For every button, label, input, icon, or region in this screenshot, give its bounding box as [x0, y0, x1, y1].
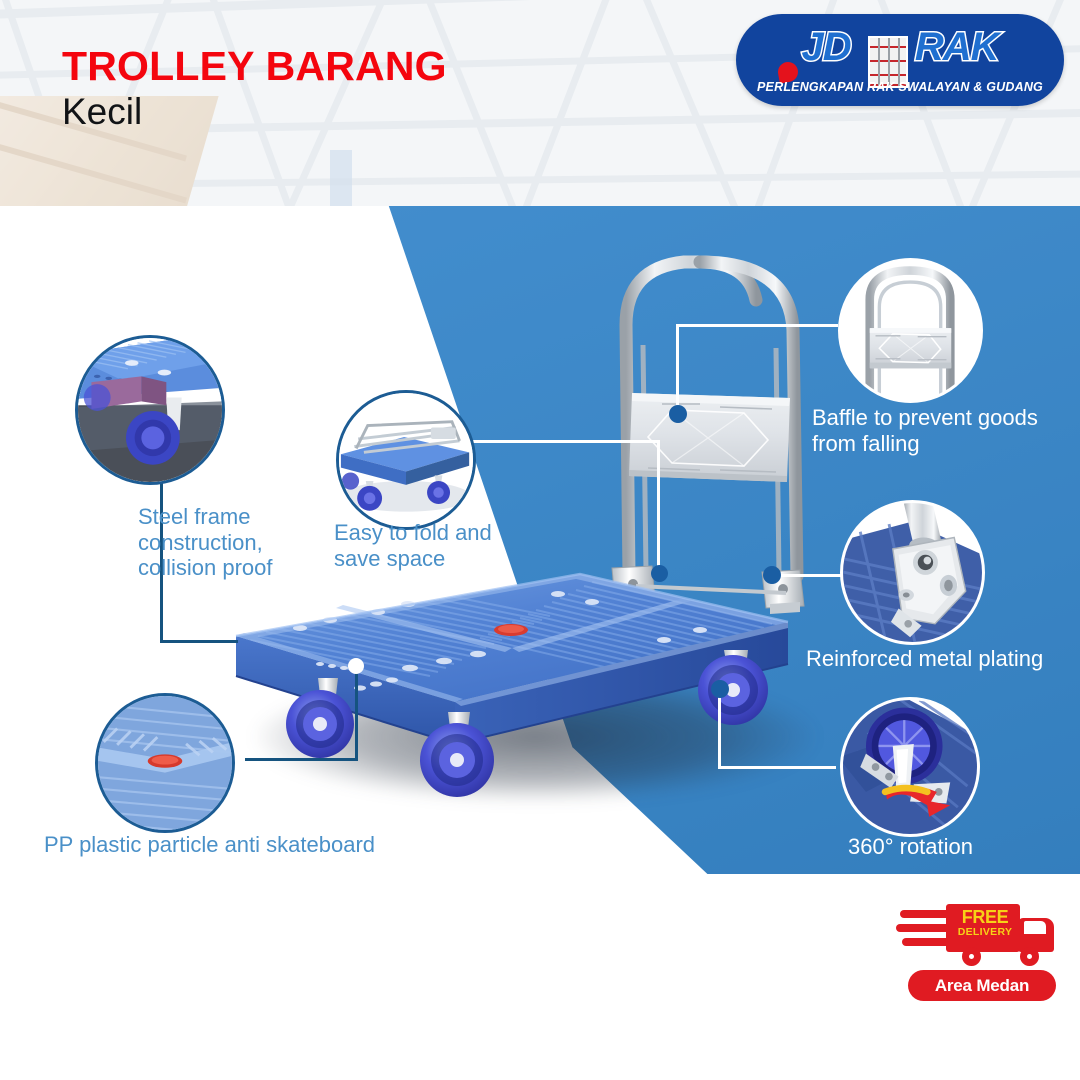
delivery-area-pill[interactable]: Area Medan — [908, 970, 1056, 1001]
hotspot-rotation — [711, 680, 729, 698]
connector-baffle-horizontal — [676, 324, 838, 327]
hotspot-metal-plating — [763, 566, 781, 584]
connector-easy-fold-drop — [657, 440, 660, 574]
callout-label-metal-plating: Reinforced metal plating — [806, 646, 1078, 672]
callout-label-easy-fold: Easy to fold and save space — [334, 520, 564, 571]
callout-label-rotation: 360° rotation — [848, 834, 1068, 860]
callout-line-2: save space — [334, 546, 564, 572]
callout-bubble-baffle[interactable] — [838, 258, 983, 403]
speed-line-3 — [902, 938, 950, 946]
connector-steel-frame-horizontal — [160, 640, 238, 643]
callout-line-1: Easy to fold and — [334, 520, 564, 546]
callout-bubble-steel-frame[interactable] — [75, 335, 225, 485]
connector-easy-fold — [460, 440, 660, 443]
connector-rotation-vertical — [718, 690, 721, 768]
callout-bubble-pp-plastic[interactable] — [95, 693, 235, 833]
speed-line-1 — [900, 910, 950, 918]
textured-deck-closeup — [98, 696, 232, 830]
brand-logo[interactable]: JD RAK PERLENGKAPAN RAK SWALAYAN & GUDAN… — [736, 14, 1064, 106]
truck-wheel-front — [1020, 947, 1039, 966]
logo-artwork: JD RAK PERLENGKAPAN RAK SWALAYAN & GUDAN… — [736, 14, 1064, 106]
truck-wheel-rear — [962, 947, 981, 966]
page-subtitle: Kecil — [62, 91, 447, 134]
hinge-plate-closeup — [843, 503, 982, 642]
callout-line-1: 360° rotation — [848, 834, 1068, 860]
hotspot-baffle — [669, 405, 687, 423]
callout-line-2: construction, — [138, 530, 338, 556]
folded-trolley-closeup — [339, 393, 473, 527]
callout-line-3: collision proof — [138, 555, 338, 581]
truck-cab — [1018, 918, 1054, 952]
product-floor-shadow — [255, 672, 815, 802]
connector-rotation-horizontal — [718, 766, 836, 769]
callout-bubble-metal-plating[interactable] — [840, 500, 985, 645]
handle-baffle-closeup — [841, 261, 980, 400]
callout-bubble-easy-fold[interactable] — [336, 390, 476, 530]
hotspot-easy-fold — [651, 565, 668, 582]
callout-line-1: Baffle to prevent goods — [812, 405, 1074, 431]
logo-tagline: PERLENGKAPAN RAK SWALAYAN & GUDANG — [754, 80, 1046, 94]
infographic-canvas: TROLLEY BARANG Kecil JD RAK PERLENGKAPAN… — [0, 0, 1080, 1080]
logo-text-rak: RAK — [915, 25, 999, 69]
callout-line-1: Steel frame — [138, 504, 338, 530]
header-title-group: TROLLEY BARANG Kecil — [62, 46, 447, 133]
callout-line-2: from falling — [812, 431, 1074, 457]
connector-pp-plastic-vertical — [355, 668, 358, 761]
callout-label-steel-frame: Steel frame construction, collision proo… — [138, 504, 338, 581]
delivery-label: DELIVERY — [952, 927, 1018, 938]
callout-line-1: Reinforced metal plating — [806, 646, 1078, 672]
free-label: FREE — [954, 908, 1016, 926]
page-title: TROLLEY BARANG — [62, 46, 447, 88]
connector-metal-plating — [771, 574, 843, 577]
free-delivery-badge[interactable]: FREE DELIVERY Area Medan — [896, 898, 1066, 1010]
hotspot-pp-plastic — [348, 658, 364, 674]
trolley-corner-caster-closeup — [78, 338, 222, 482]
connector-baffle-drop — [676, 324, 679, 413]
logo-text-jd: JD — [801, 25, 850, 69]
callout-label-baffle: Baffle to prevent goods from falling — [812, 405, 1074, 456]
swivel-caster-closeup — [843, 700, 977, 834]
callout-line-1: PP plastic particle anti skateboard — [44, 832, 464, 858]
connector-pp-plastic-horizontal — [245, 758, 358, 761]
speed-line-2 — [896, 924, 952, 932]
deck-brand-badge — [494, 624, 528, 636]
callout-label-pp-plastic: PP plastic particle anti skateboard — [44, 832, 464, 858]
callout-bubble-rotation[interactable] — [840, 697, 980, 837]
